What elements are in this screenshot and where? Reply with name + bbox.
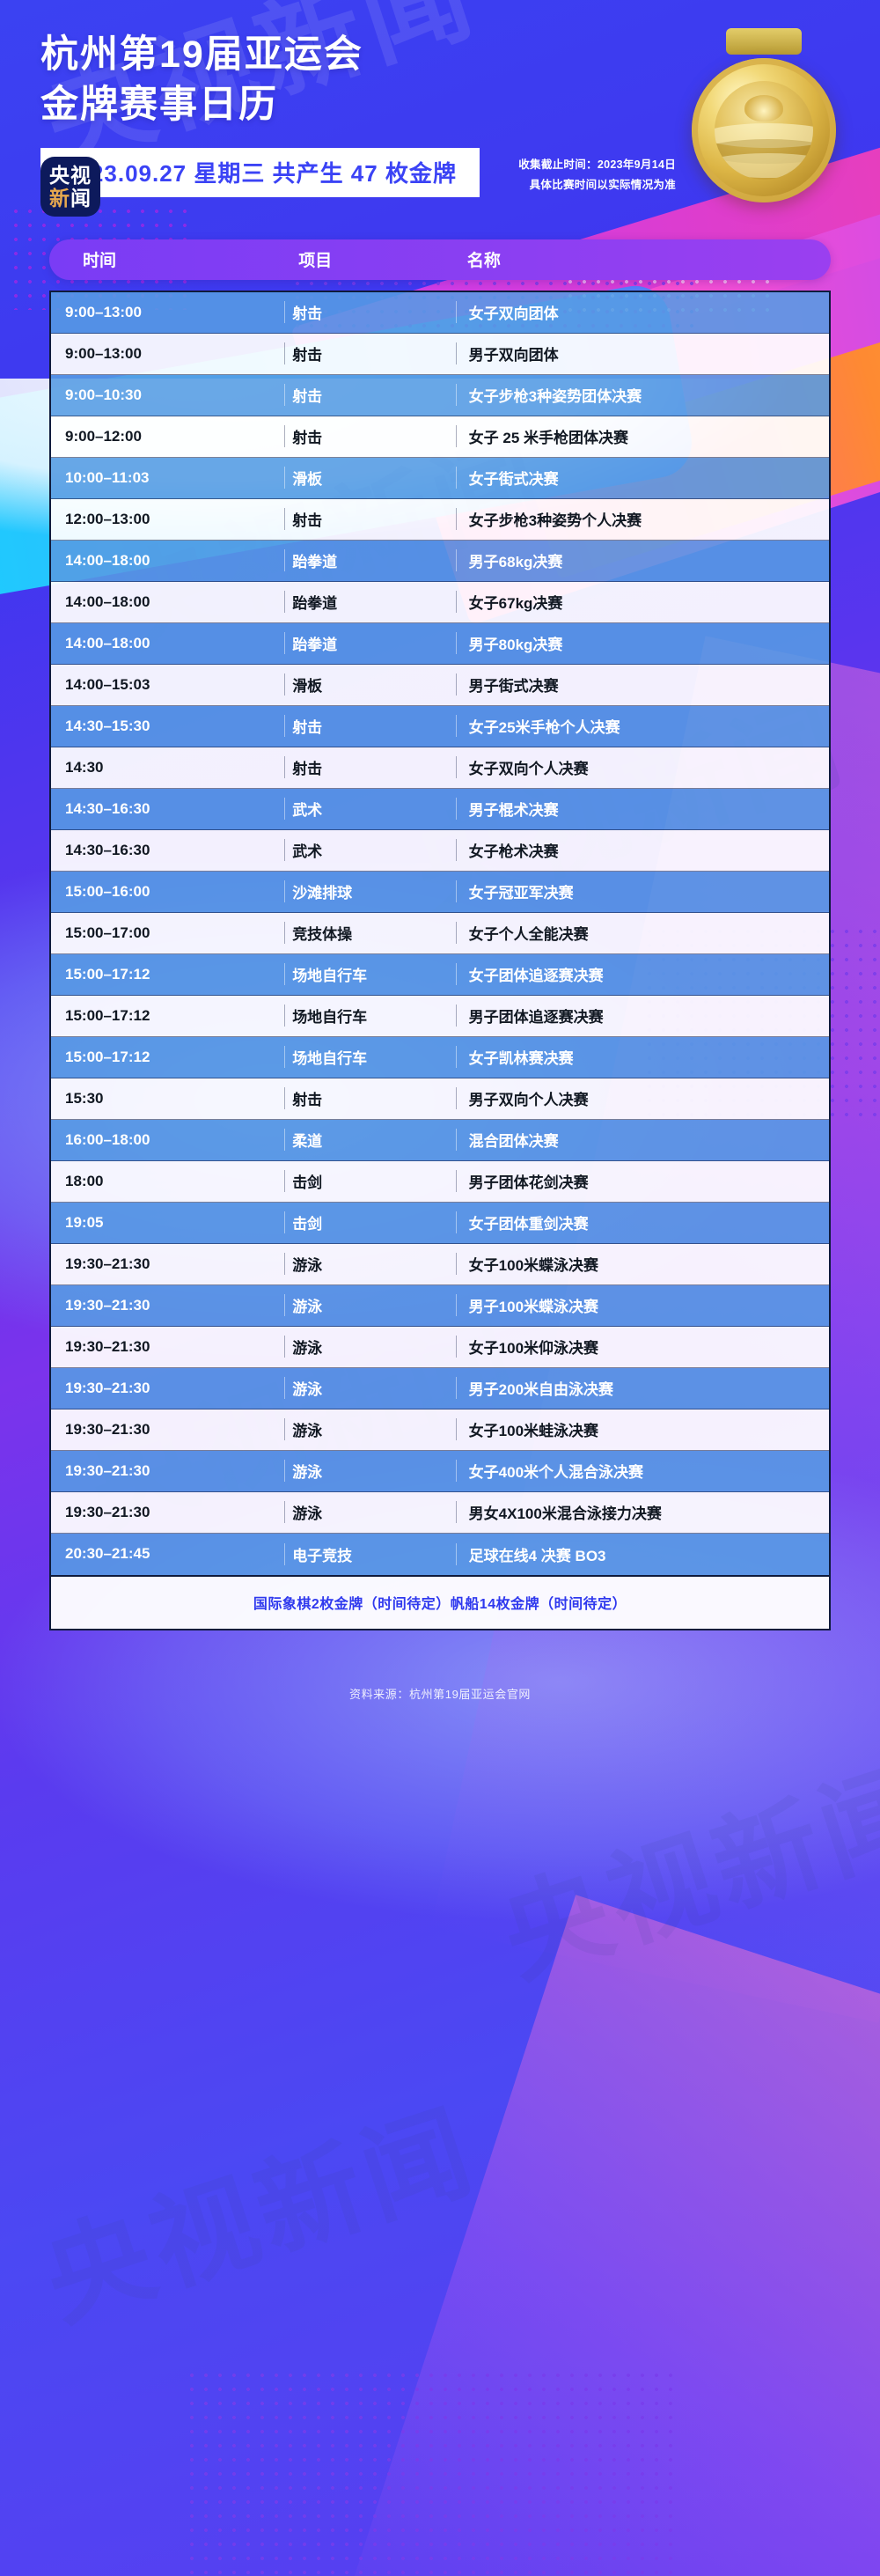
cell-sport: 武术	[284, 839, 455, 861]
cell-event-name: 男女4X100米混合泳接力决赛	[456, 1501, 829, 1523]
cell-event-name: 女子100米蛙泳决赛	[456, 1418, 829, 1440]
cell-sport: 游泳	[284, 1501, 455, 1523]
table-row: 19:30–21:30游泳男子100米蝶泳决赛	[51, 1285, 829, 1327]
table-row: 18:00击剑男子团体花剑决赛	[51, 1161, 829, 1203]
cell-time: 15:00–17:12	[51, 966, 284, 983]
cell-time: 19:05	[51, 1214, 284, 1232]
cell-event-name: 女子25米手枪个人决赛	[456, 715, 829, 737]
column-header-sport: 项目	[291, 247, 455, 271]
cell-sport: 滑板	[284, 673, 455, 696]
table-row: 14:30–16:30武术男子棍术决赛	[51, 789, 829, 830]
cell-event-name: 女子枪术决赛	[456, 839, 829, 861]
table-row: 12:00–13:00射击女子步枪3种姿势个人决赛	[51, 499, 829, 541]
table-row: 9:00–13:00射击男子双向团体	[51, 334, 829, 375]
table-row: 9:00–13:00射击女子双向团体	[51, 292, 829, 334]
cell-event-name: 女子 25 米手枪团体决赛	[456, 425, 829, 447]
schedule-table: 时间 项目 名称 9:00–13:00射击女子双向团体9:00–13:00射击男…	[49, 239, 831, 1630]
cell-event-name: 男子双向个人决赛	[456, 1087, 829, 1109]
cell-sport: 游泳	[284, 1336, 455, 1358]
table-row: 14:00–18:00跆拳道男子80kg决赛	[51, 623, 829, 665]
cell-time: 14:30–16:30	[51, 800, 284, 818]
table-row: 15:00–16:00沙滩排球女子冠亚军决赛	[51, 872, 829, 913]
cell-sport: 射击	[284, 715, 455, 737]
cell-sport: 射击	[284, 384, 455, 406]
cell-time: 12:00–13:00	[51, 511, 284, 528]
cell-time: 9:00–12:00	[51, 428, 284, 445]
cell-event-name: 女子100米蝶泳决赛	[456, 1253, 829, 1275]
cell-time: 14:30–15:30	[51, 718, 284, 735]
cell-event-name: 女子团体重剑决赛	[456, 1211, 829, 1233]
cell-time: 9:00–13:00	[51, 304, 284, 321]
pink-band-bottom	[331, 1895, 880, 2576]
table-row: 9:00–10:30射击女子步枪3种姿势团体决赛	[51, 375, 829, 416]
cell-event-name: 女子双向个人决赛	[456, 756, 829, 778]
source-credit: 资料来源：杭州第19届亚运会官网	[0, 1685, 880, 1702]
table-row: 19:30–21:30游泳女子100米蛙泳决赛	[51, 1409, 829, 1451]
cell-time: 19:30–21:30	[51, 1255, 284, 1273]
watermark-text: 央视新闻	[480, 1722, 880, 2005]
cell-time: 15:30	[51, 1090, 284, 1108]
logo-char-gold: 新	[49, 187, 70, 210]
cell-event-name: 女子67kg决赛	[456, 591, 829, 613]
cell-time: 14:00–18:00	[51, 593, 284, 611]
table-row: 14:30射击女子双向个人决赛	[51, 747, 829, 789]
cell-sport: 射击	[284, 301, 455, 323]
table-row: 14:30–16:30武术女子枪术决赛	[51, 830, 829, 872]
cell-event-name: 女子双向团体	[456, 301, 829, 323]
table-row: 15:00–17:12场地自行车女子凯林赛决赛	[51, 1037, 829, 1078]
cell-event-name: 女子步枪3种姿势个人决赛	[456, 508, 829, 530]
table-row: 19:30–21:30游泳女子100米仰泳决赛	[51, 1327, 829, 1368]
column-header-name: 名称	[455, 247, 811, 271]
cell-time: 19:30–21:30	[51, 1380, 284, 1397]
table-row: 14:00–18:00跆拳道女子67kg决赛	[51, 582, 829, 623]
poster-canvas: 央视新闻 央视新闻 央视新闻 央视新闻 央视新闻 央视新闻 杭州第19届亚运会 …	[0, 0, 880, 2576]
cell-sport: 游泳	[284, 1253, 455, 1275]
cell-time: 19:30–21:30	[51, 1421, 284, 1439]
cell-event-name: 男子200米自由泳决赛	[456, 1377, 829, 1399]
cell-event-name: 混合团体决赛	[456, 1129, 829, 1151]
collection-notes: 收集截止时间：2023年9月14日 具体比赛时间以实际情况为准	[518, 155, 676, 195]
table-row: 15:00–17:00竞技体操女子个人全能决赛	[51, 913, 829, 954]
cell-sport: 武术	[284, 798, 455, 820]
cell-event-name: 女子400米个人混合泳决赛	[456, 1460, 829, 1482]
cell-event-name: 男子街式决赛	[456, 673, 829, 696]
cell-sport: 击剑	[284, 1211, 455, 1233]
cell-time: 15:00–17:12	[51, 1049, 284, 1066]
cell-sport: 射击	[284, 1087, 455, 1109]
medal-wave	[715, 153, 813, 178]
cell-time: 15:00–17:12	[51, 1007, 284, 1025]
cell-event-name: 男子80kg决赛	[456, 632, 829, 654]
cell-sport: 游泳	[284, 1460, 455, 1482]
table-row: 20:30–21:45电子竞技足球在线4 决赛 BO3	[51, 1534, 829, 1575]
medal-disc	[692, 58, 836, 202]
cell-sport: 场地自行车	[284, 1046, 455, 1068]
cell-time: 19:30–21:30	[51, 1338, 284, 1356]
cell-event-name: 女子凯林赛决赛	[456, 1046, 829, 1068]
cell-time: 9:00–10:30	[51, 386, 284, 404]
cell-sport: 场地自行车	[284, 1005, 455, 1027]
cell-sport: 场地自行车	[284, 963, 455, 985]
note-line-2: 具体比赛时间以实际情况为准	[518, 175, 676, 195]
cell-time: 19:30–21:30	[51, 1504, 284, 1521]
cell-sport: 射击	[284, 756, 455, 778]
table-row: 15:00–17:12场地自行车男子团体追逐赛决赛	[51, 996, 829, 1037]
cell-event-name: 女子个人全能决赛	[456, 922, 829, 944]
table-row: 14:30–15:30射击女子25米手枪个人决赛	[51, 706, 829, 747]
cell-sport: 游泳	[284, 1377, 455, 1399]
cell-event-name: 女子100米仰泳决赛	[456, 1336, 829, 1358]
cell-event-name: 足球在线4 决赛 BO3	[456, 1543, 829, 1565]
cell-sport: 滑板	[284, 467, 455, 489]
table-row: 14:00–18:00跆拳道男子68kg决赛	[51, 541, 829, 582]
cell-event-name: 女子街式决赛	[456, 467, 829, 489]
cell-time: 14:00–18:00	[51, 635, 284, 652]
medal-ribbon-icon	[726, 28, 802, 55]
cell-time: 14:00–15:03	[51, 676, 284, 694]
table-row: 10:00–11:03滑板女子街式决赛	[51, 458, 829, 499]
cell-sport: 游泳	[284, 1294, 455, 1316]
cell-event-name: 男子68kg决赛	[456, 549, 829, 571]
cell-sport: 跆拳道	[284, 591, 455, 613]
cell-time: 19:30–21:30	[51, 1462, 284, 1480]
gold-medal-icon	[685, 42, 843, 201]
cell-sport: 跆拳道	[284, 549, 455, 571]
table-row: 19:30–21:30游泳女子100米蝶泳决赛	[51, 1244, 829, 1285]
dot-pattern-footer	[185, 2368, 678, 2576]
cell-sport: 跆拳道	[284, 632, 455, 654]
table-row: 14:00–15:03滑板男子街式决赛	[51, 665, 829, 706]
cell-time: 14:30–16:30	[51, 842, 284, 859]
cell-time: 20:30–21:45	[51, 1545, 284, 1563]
cell-time: 18:00	[51, 1173, 284, 1190]
cell-time: 9:00–13:00	[51, 345, 284, 363]
note-line-1: 收集截止时间：2023年9月14日	[518, 155, 676, 175]
cell-time: 16:00–18:00	[51, 1131, 284, 1149]
logo-line-2: 新闻	[49, 188, 92, 209]
table-row: 16:00–18:00柔道混合团体决赛	[51, 1120, 829, 1161]
cell-time: 15:00–17:00	[51, 924, 284, 942]
cell-event-name: 女子步枪3种姿势团体决赛	[456, 384, 829, 406]
medal-inner-face	[715, 81, 813, 180]
cell-sport: 电子竞技	[284, 1543, 455, 1565]
cell-sport: 射击	[284, 425, 455, 447]
cell-sport: 击剑	[284, 1170, 455, 1192]
cell-event-name: 男子团体花剑决赛	[456, 1170, 829, 1192]
cell-time: 15:00–16:00	[51, 883, 284, 901]
date-banner: 2023.09.27 星期三 共产生 47 枚金牌	[40, 148, 480, 197]
cell-sport: 沙滩排球	[284, 880, 455, 902]
table-header-row: 时间 项目 名称	[49, 239, 831, 280]
cell-sport: 竞技体操	[284, 922, 455, 944]
table-row: 19:30–21:30游泳男子200米自由泳决赛	[51, 1368, 829, 1409]
logo-char-white: 闻	[70, 187, 92, 210]
table-row: 19:05击剑女子团体重剑决赛	[51, 1203, 829, 1244]
table-row: 19:30–21:30游泳女子400米个人混合泳决赛	[51, 1451, 829, 1492]
cell-time: 10:00–11:03	[51, 469, 284, 487]
cell-event-name: 男子团体追逐赛决赛	[456, 1005, 829, 1027]
cell-event-name: 男子双向团体	[456, 342, 829, 364]
table-row: 19:30–21:30游泳男女4X100米混合泳接力决赛	[51, 1492, 829, 1534]
cell-sport: 游泳	[284, 1418, 455, 1440]
cell-time: 14:30	[51, 759, 284, 776]
pending-events-note: 国际象棋2枚金牌（时间待定）帆船14枚金牌（时间待定）	[49, 1577, 831, 1630]
table-row: 15:00–17:12场地自行车女子团体追逐赛决赛	[51, 954, 829, 996]
column-header-time: 时间	[69, 247, 291, 271]
logo-line-1: 央视	[49, 166, 92, 186]
table-row: 9:00–12:00射击女子 25 米手枪团体决赛	[51, 416, 829, 458]
cell-sport: 射击	[284, 342, 455, 364]
cell-event-name: 男子100米蝶泳决赛	[456, 1294, 829, 1316]
watermark-text: 央视新闻	[22, 2065, 491, 2348]
cctv-news-logo: 央视 新闻	[40, 157, 100, 217]
cell-event-name: 女子冠亚军决赛	[456, 880, 829, 902]
cell-sport: 柔道	[284, 1129, 455, 1151]
cell-time: 14:00–18:00	[51, 552, 284, 570]
cell-event-name: 男子棍术决赛	[456, 798, 829, 820]
table-body: 9:00–13:00射击女子双向团体9:00–13:00射击男子双向团体9:00…	[49, 291, 831, 1577]
cell-sport: 射击	[284, 508, 455, 530]
table-row: 15:30射击男子双向个人决赛	[51, 1078, 829, 1120]
cell-time: 19:30–21:30	[51, 1297, 284, 1314]
medal-emblem-icon	[744, 95, 783, 121]
cell-event-name: 女子团体追逐赛决赛	[456, 963, 829, 985]
